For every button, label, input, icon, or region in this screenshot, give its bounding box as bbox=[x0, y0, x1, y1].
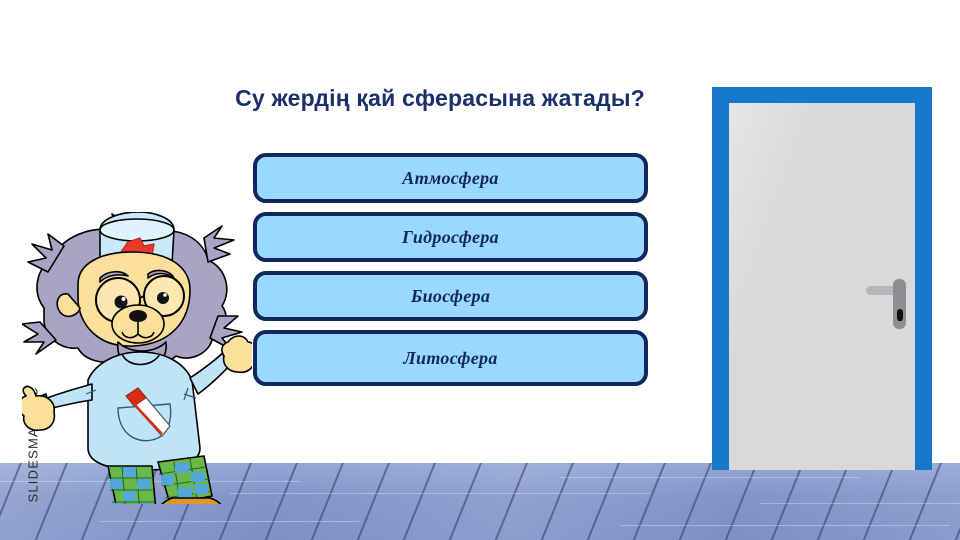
floor-seam bbox=[620, 525, 950, 526]
cartoon-doctor-character bbox=[22, 212, 252, 504]
answer-label: Гидросфера bbox=[402, 227, 499, 248]
door-handle[interactable] bbox=[893, 279, 906, 329]
answer-options: Атмосфера Гидросфера Биосфера Литосфера bbox=[253, 153, 648, 395]
floor-seam bbox=[560, 477, 860, 478]
answer-button-4[interactable]: Литосфера bbox=[253, 330, 648, 386]
floor-seam bbox=[230, 493, 650, 494]
door[interactable] bbox=[712, 87, 932, 470]
floor-seam bbox=[100, 521, 360, 522]
answer-button-3[interactable]: Биосфера bbox=[253, 271, 648, 321]
slide-canvas: Су жердің қай сферасына жатады? Атмосфер… bbox=[0, 0, 960, 540]
page-title: Су жердің қай сферасына жатады? bbox=[160, 84, 720, 112]
floor-seam bbox=[760, 503, 960, 504]
answer-label: Литосфера bbox=[403, 348, 497, 369]
keyhole-icon bbox=[897, 309, 903, 320]
answer-label: Атмосфера bbox=[402, 168, 498, 189]
answer-button-2[interactable]: Гидросфера bbox=[253, 212, 648, 262]
answer-label: Биосфера bbox=[411, 286, 490, 307]
answer-button-1[interactable]: Атмосфера bbox=[253, 153, 648, 203]
